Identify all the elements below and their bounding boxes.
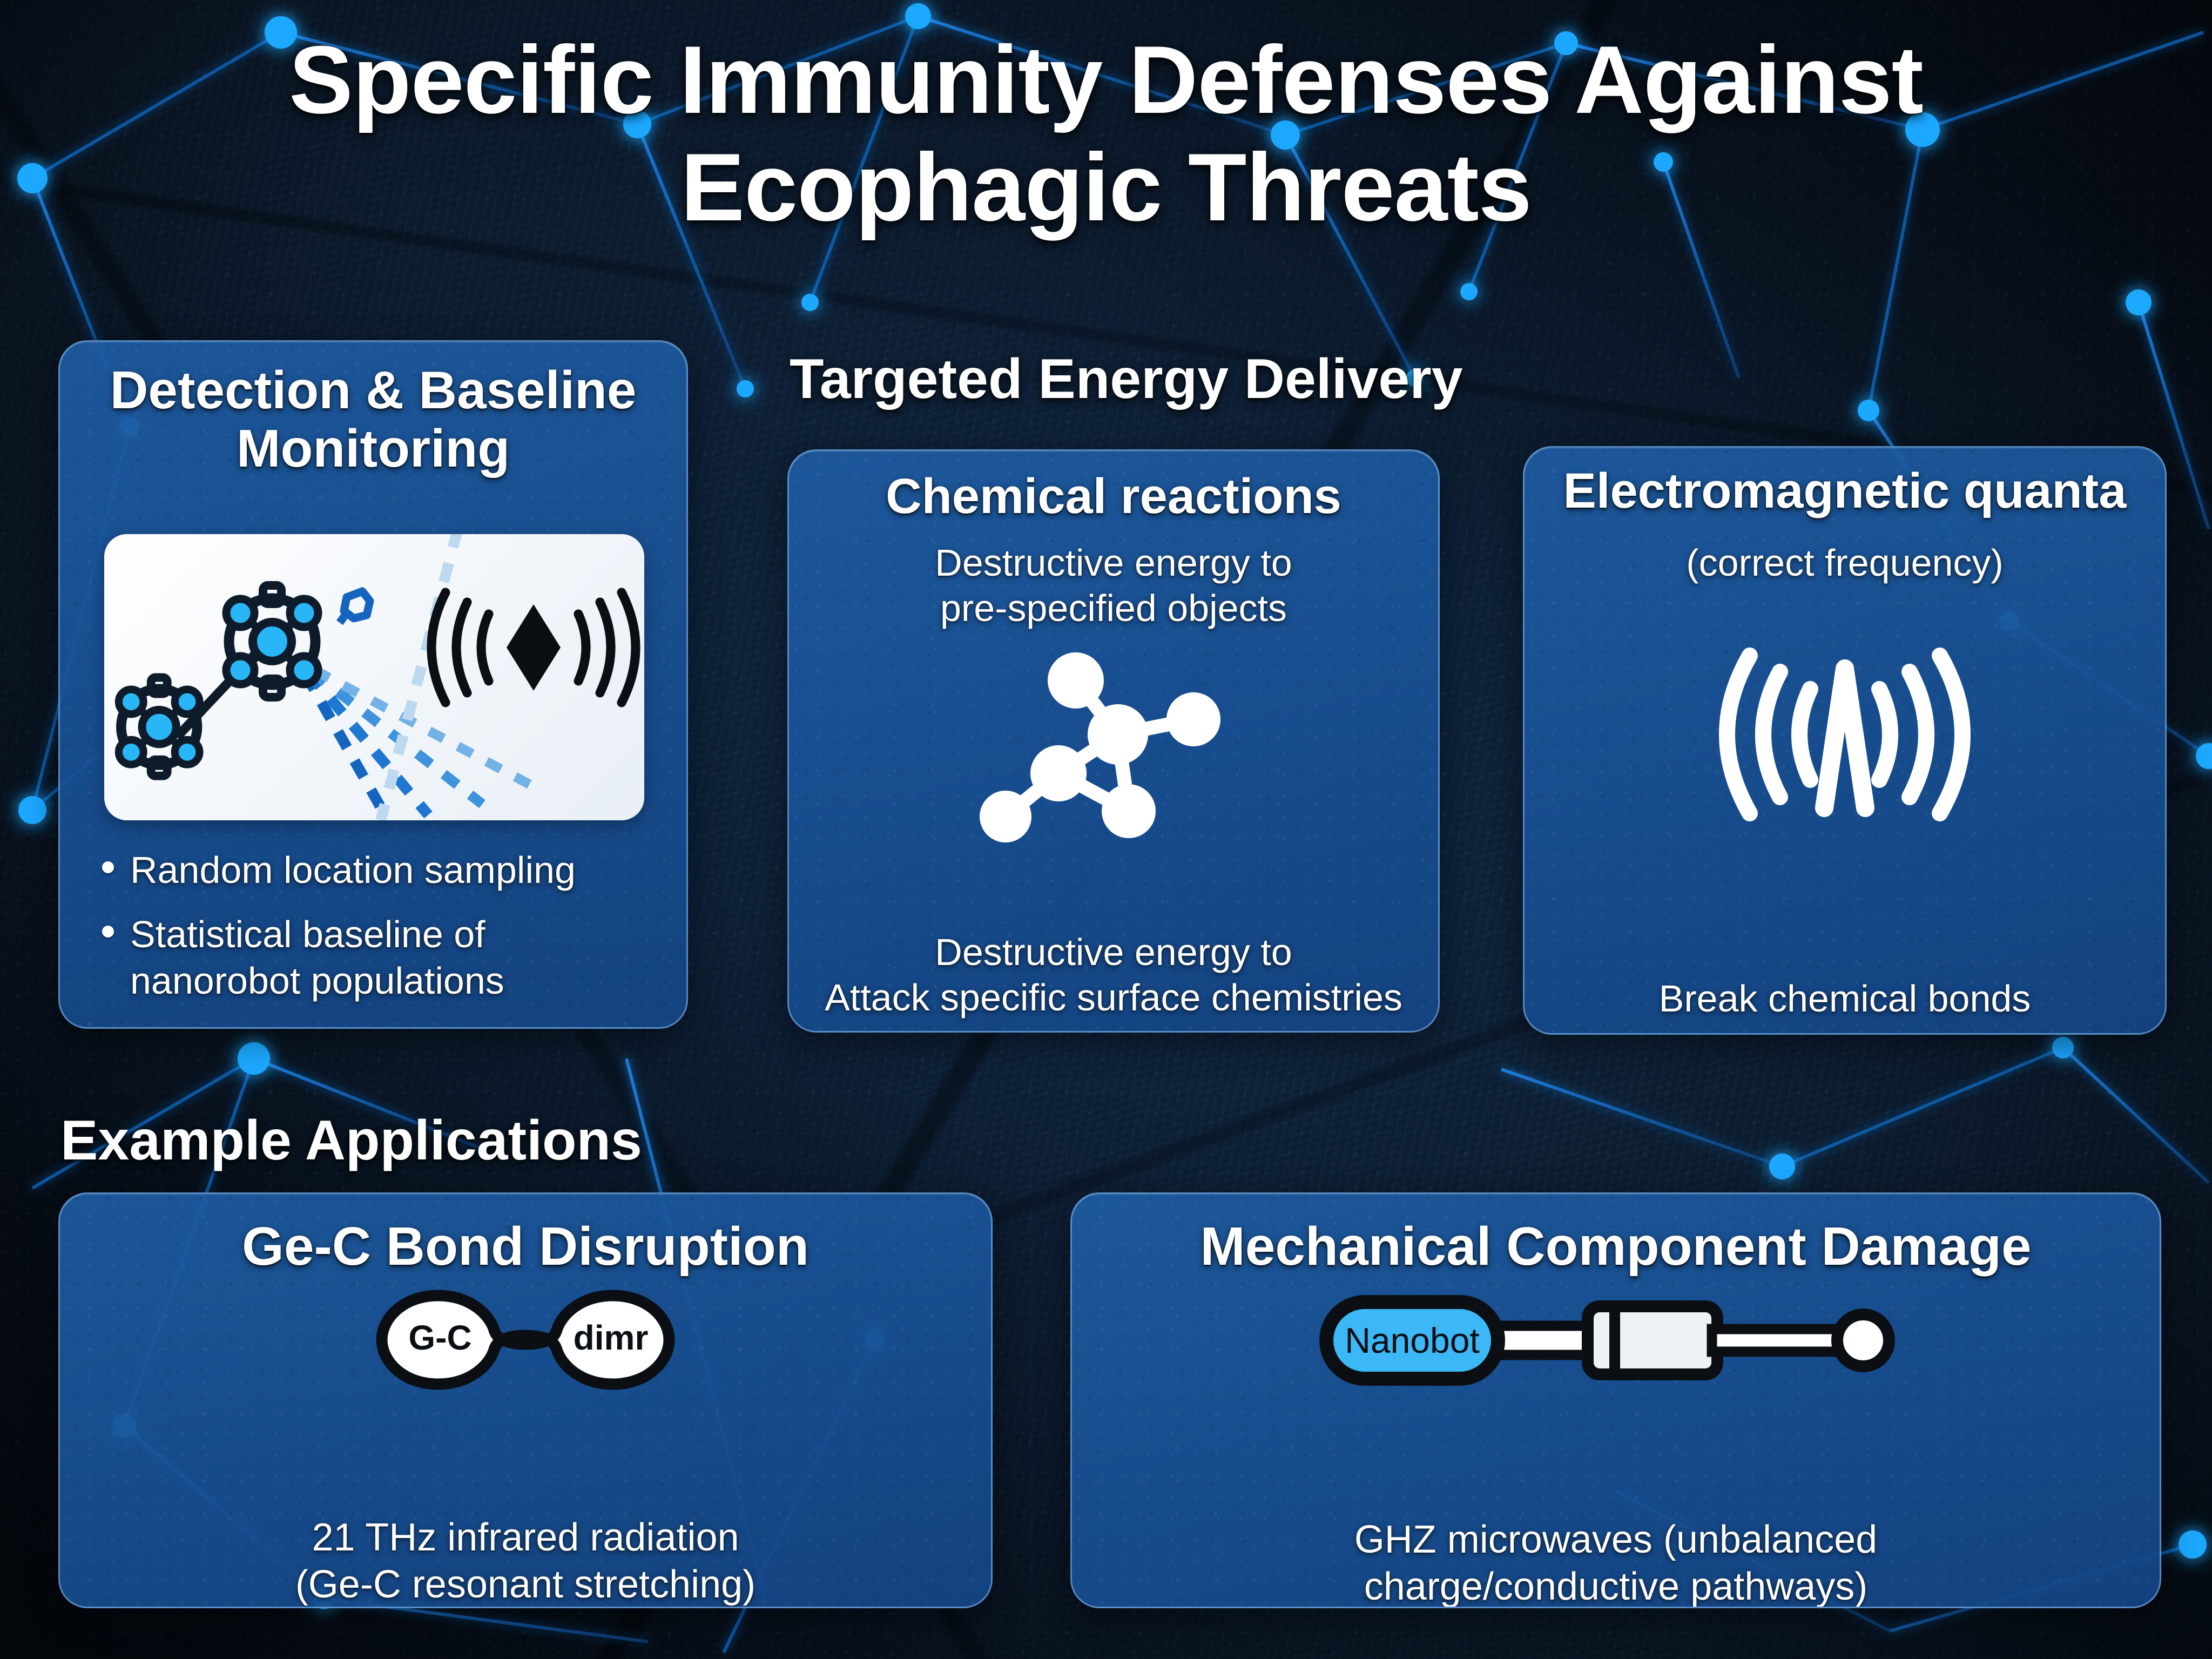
card-title-mechanical-component-damage: Mechanical Component Damage [1072,1217,2160,1276]
card-title-detection: Detection & Baseline Monitoring [60,361,686,478]
bullet-dot-icon [102,926,114,938]
em-sub-text: (correct frequency) [1525,540,2165,585]
section-heading-targeted-energy-delivery: Targeted Energy Delivery [790,351,1463,407]
card-title-ge-c-bond-disruption: Ge-C Bond Disruption [60,1217,991,1276]
molecule-icon [973,638,1254,854]
nanobot-actuator-icon: Nanobot [1319,1294,1913,1386]
section-heading-example-applications: Example Applications [60,1112,642,1169]
list-item: Statistical baseline of nanorobot popula… [102,912,648,1004]
ge-c-bottom-text: 21 THz infrared radiation (Ge-C resonant… [60,1514,991,1608]
dumbbell-dimer-icon: G-C dimr [374,1286,677,1394]
detection-bullet-list: Random location sampling Statistical bas… [102,847,648,1022]
list-item: Random location sampling [102,847,648,893]
pointer-icon [340,591,370,623]
chemical-top-text: Destructive energy to pre-specified obje… [789,540,1438,631]
card-electromagnetic-quanta[interactable]: Electromagnetic quanta (correct frequenc… [1523,446,2167,1035]
mechanical-bottom-text: GHZ microwaves (unbalanced charge/conduc… [1072,1516,2160,1608]
card-title-electromagnetic-quanta: Electromagnetic quanta [1525,464,2165,518]
em-bottom-text: Break chemical bonds [1525,976,2165,1021]
bullet-text: Random location sampling [130,847,576,893]
card-title-chemical-reactions: Chemical reactions [789,469,1438,524]
signal-broadcast-icon [431,592,636,703]
dimer-left-label: G-C [408,1318,471,1357]
dimer-right-label: dimr [574,1318,649,1357]
card-mechanical-component-damage[interactable]: Mechanical Component Damage Nanobot GHZ … [1070,1192,2161,1608]
card-detection-baseline-monitoring[interactable]: Detection & Baseline Monitoring [58,340,688,1029]
nanobot-detection-illustration [104,534,644,820]
bullet-dot-icon [102,861,114,873]
card-ge-c-bond-disruption[interactable]: Ge-C Bond Disruption G-C dimr 21 THz inf… [58,1192,993,1608]
bullet-text: Statistical baseline of nanorobot popula… [130,912,504,1004]
card-chemical-reactions[interactable]: Chemical reactions Destructive energy to… [787,449,1440,1033]
chemical-bottom-text: Destructive energy to Attack specific su… [789,929,1438,1020]
nanobot-pill-label: Nanobot [1345,1320,1480,1360]
broadcast-antenna-icon [1704,616,1985,842]
page-title: Specific Immunity Defenses Against Ecoph… [0,26,2212,241]
